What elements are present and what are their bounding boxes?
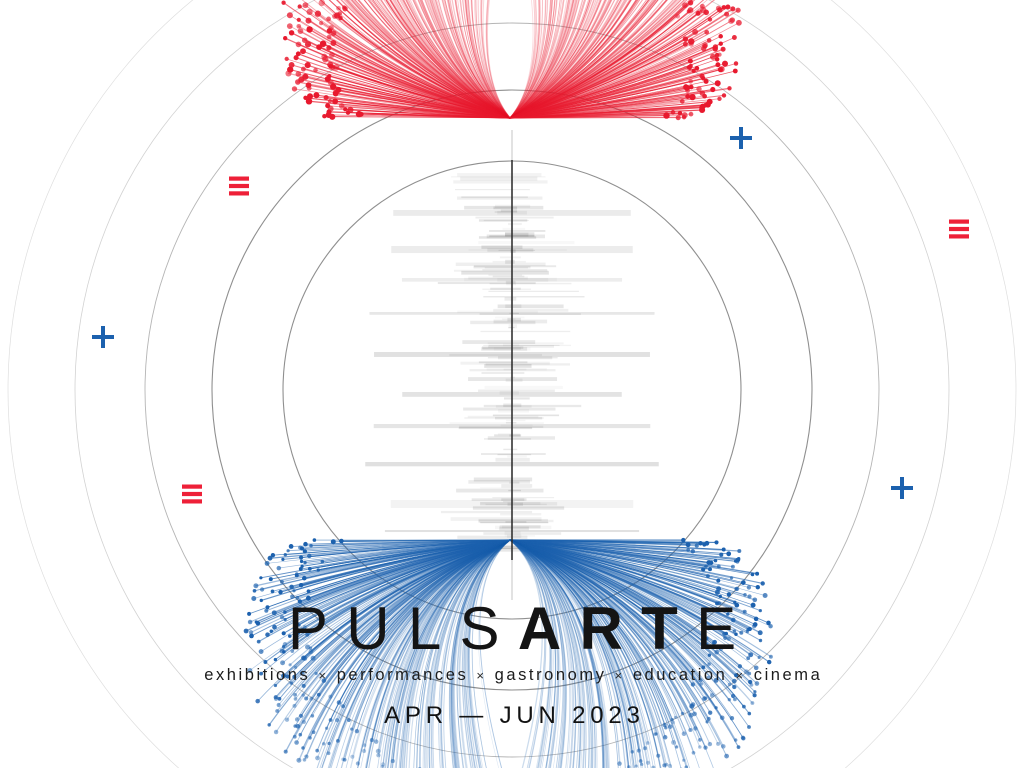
page-title: PULSARTE <box>0 600 1024 658</box>
title-segment-puls: PULS <box>288 595 518 662</box>
subtitle-item-performances: performances <box>337 666 469 684</box>
subtitle-item-cinema: cinema <box>754 666 823 684</box>
poster-text-block: PULSARTE exhibitions × performances × ga… <box>0 600 1024 730</box>
bars-right-icon <box>949 220 969 239</box>
subtitle-separator: × <box>468 668 494 683</box>
bars-bottom-left-icon <box>182 485 202 504</box>
plus-top-right-icon <box>730 127 752 149</box>
subtitle-separator: × <box>606 668 632 683</box>
plus-bottom-right-icon <box>891 477 913 499</box>
subtitle-separator: × <box>727 668 753 683</box>
subtitle-item-gastronomy: gastronomy <box>495 666 607 684</box>
subtitle-item-exhibitions: exhibitions <box>204 666 310 684</box>
subtitle-item-education: education <box>633 666 728 684</box>
subtitle-categories: exhibitions × performances × gastronomy … <box>0 666 1024 685</box>
title-segment-e: E <box>696 595 754 662</box>
poster-canvas: PULSARTE exhibitions × performances × ga… <box>0 0 1024 768</box>
plus-left-icon <box>92 326 114 348</box>
dateline: APR — JUN 2023 <box>0 702 1024 730</box>
bars-top-left-icon <box>229 177 249 196</box>
subtitle-separator: × <box>310 668 336 683</box>
title-segment-art: ART <box>518 595 696 662</box>
